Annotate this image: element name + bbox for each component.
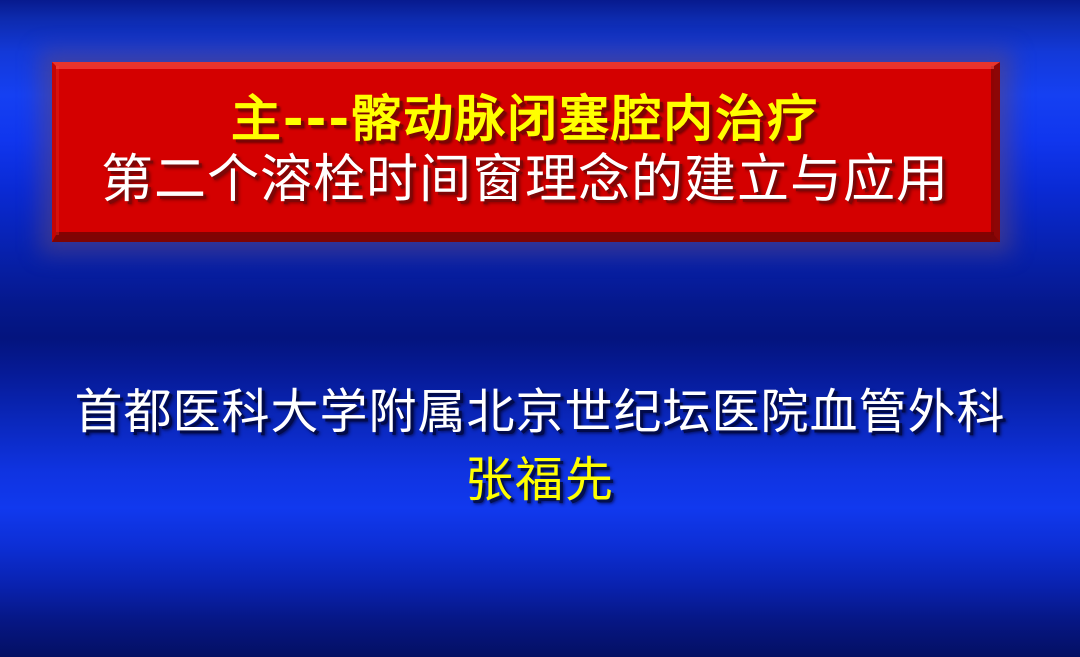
presenter-block: 首都医科大学附属北京世纪坛医院血管外科 张福先 bbox=[0, 382, 1080, 512]
title-plaque: 主---髂动脉闭塞腔内治疗 第二个溶栓时间窗理念的建立与应用 bbox=[52, 62, 1000, 242]
affiliation-text: 首都医科大学附属北京世纪坛医院血管外科 bbox=[0, 382, 1080, 444]
slide-title-primary: 主---髂动脉闭塞腔内治疗 bbox=[231, 90, 819, 148]
slide-title-subtitle: 第二个溶栓时间窗理念的建立与应用 bbox=[101, 150, 949, 212]
presentation-slide: 主---髂动脉闭塞腔内治疗 第二个溶栓时间窗理念的建立与应用 首都医科大学附属北… bbox=[0, 0, 1080, 657]
presenter-name: 张福先 bbox=[0, 450, 1080, 512]
